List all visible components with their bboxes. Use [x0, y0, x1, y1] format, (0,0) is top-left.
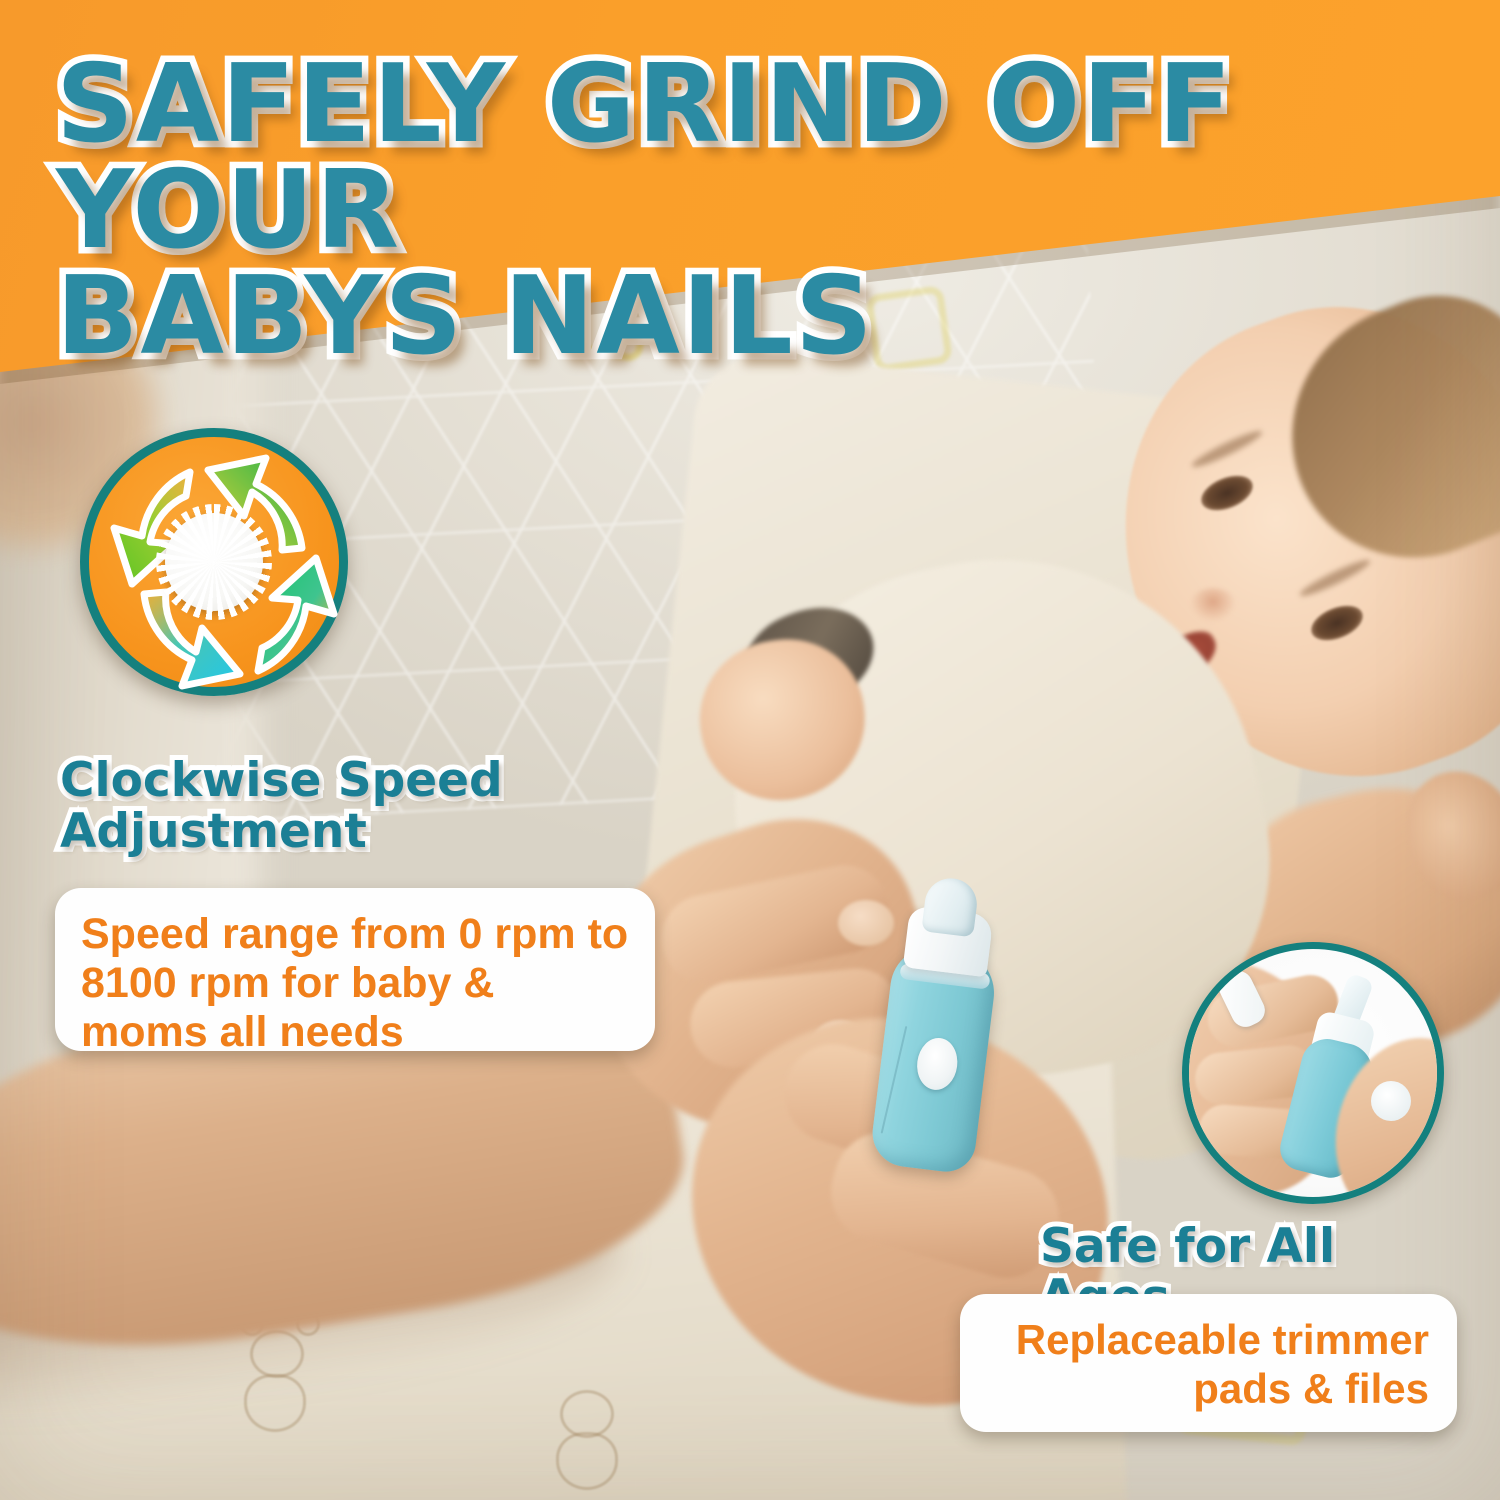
product-infographic: SAFELY GRIND OFF YOUR BABYS NAILS [0, 0, 1500, 1500]
baby-nose [1190, 588, 1236, 622]
trimmer-tip [921, 875, 979, 937]
fabric-doodle [560, 1390, 614, 1438]
headline-line-1: SAFELY GRIND OFF YOUR [56, 42, 1234, 273]
inset-trimmer-end-cap [1371, 1081, 1411, 1121]
gear-icon [165, 513, 263, 611]
fabric-doodle [556, 1432, 618, 1490]
feature-card-replaceable-pads: Replaceable trimmer pads & files [960, 1294, 1457, 1432]
rotation-arrows-gear-icon [80, 428, 348, 696]
headline-line-2: BABYS NAILS [56, 264, 1376, 370]
page-title: SAFELY GRIND OFF YOUR BABYS NAILS [56, 52, 1376, 369]
feature-heading-clockwise-speed: Clockwise Speed Adjustment [60, 756, 580, 858]
feature-card-speed-range: Speed range from 0 rpm to 8100 rpm for b… [55, 888, 655, 1051]
product-closeup-inset-icon [1182, 942, 1444, 1204]
baby-fingernail [838, 900, 894, 946]
